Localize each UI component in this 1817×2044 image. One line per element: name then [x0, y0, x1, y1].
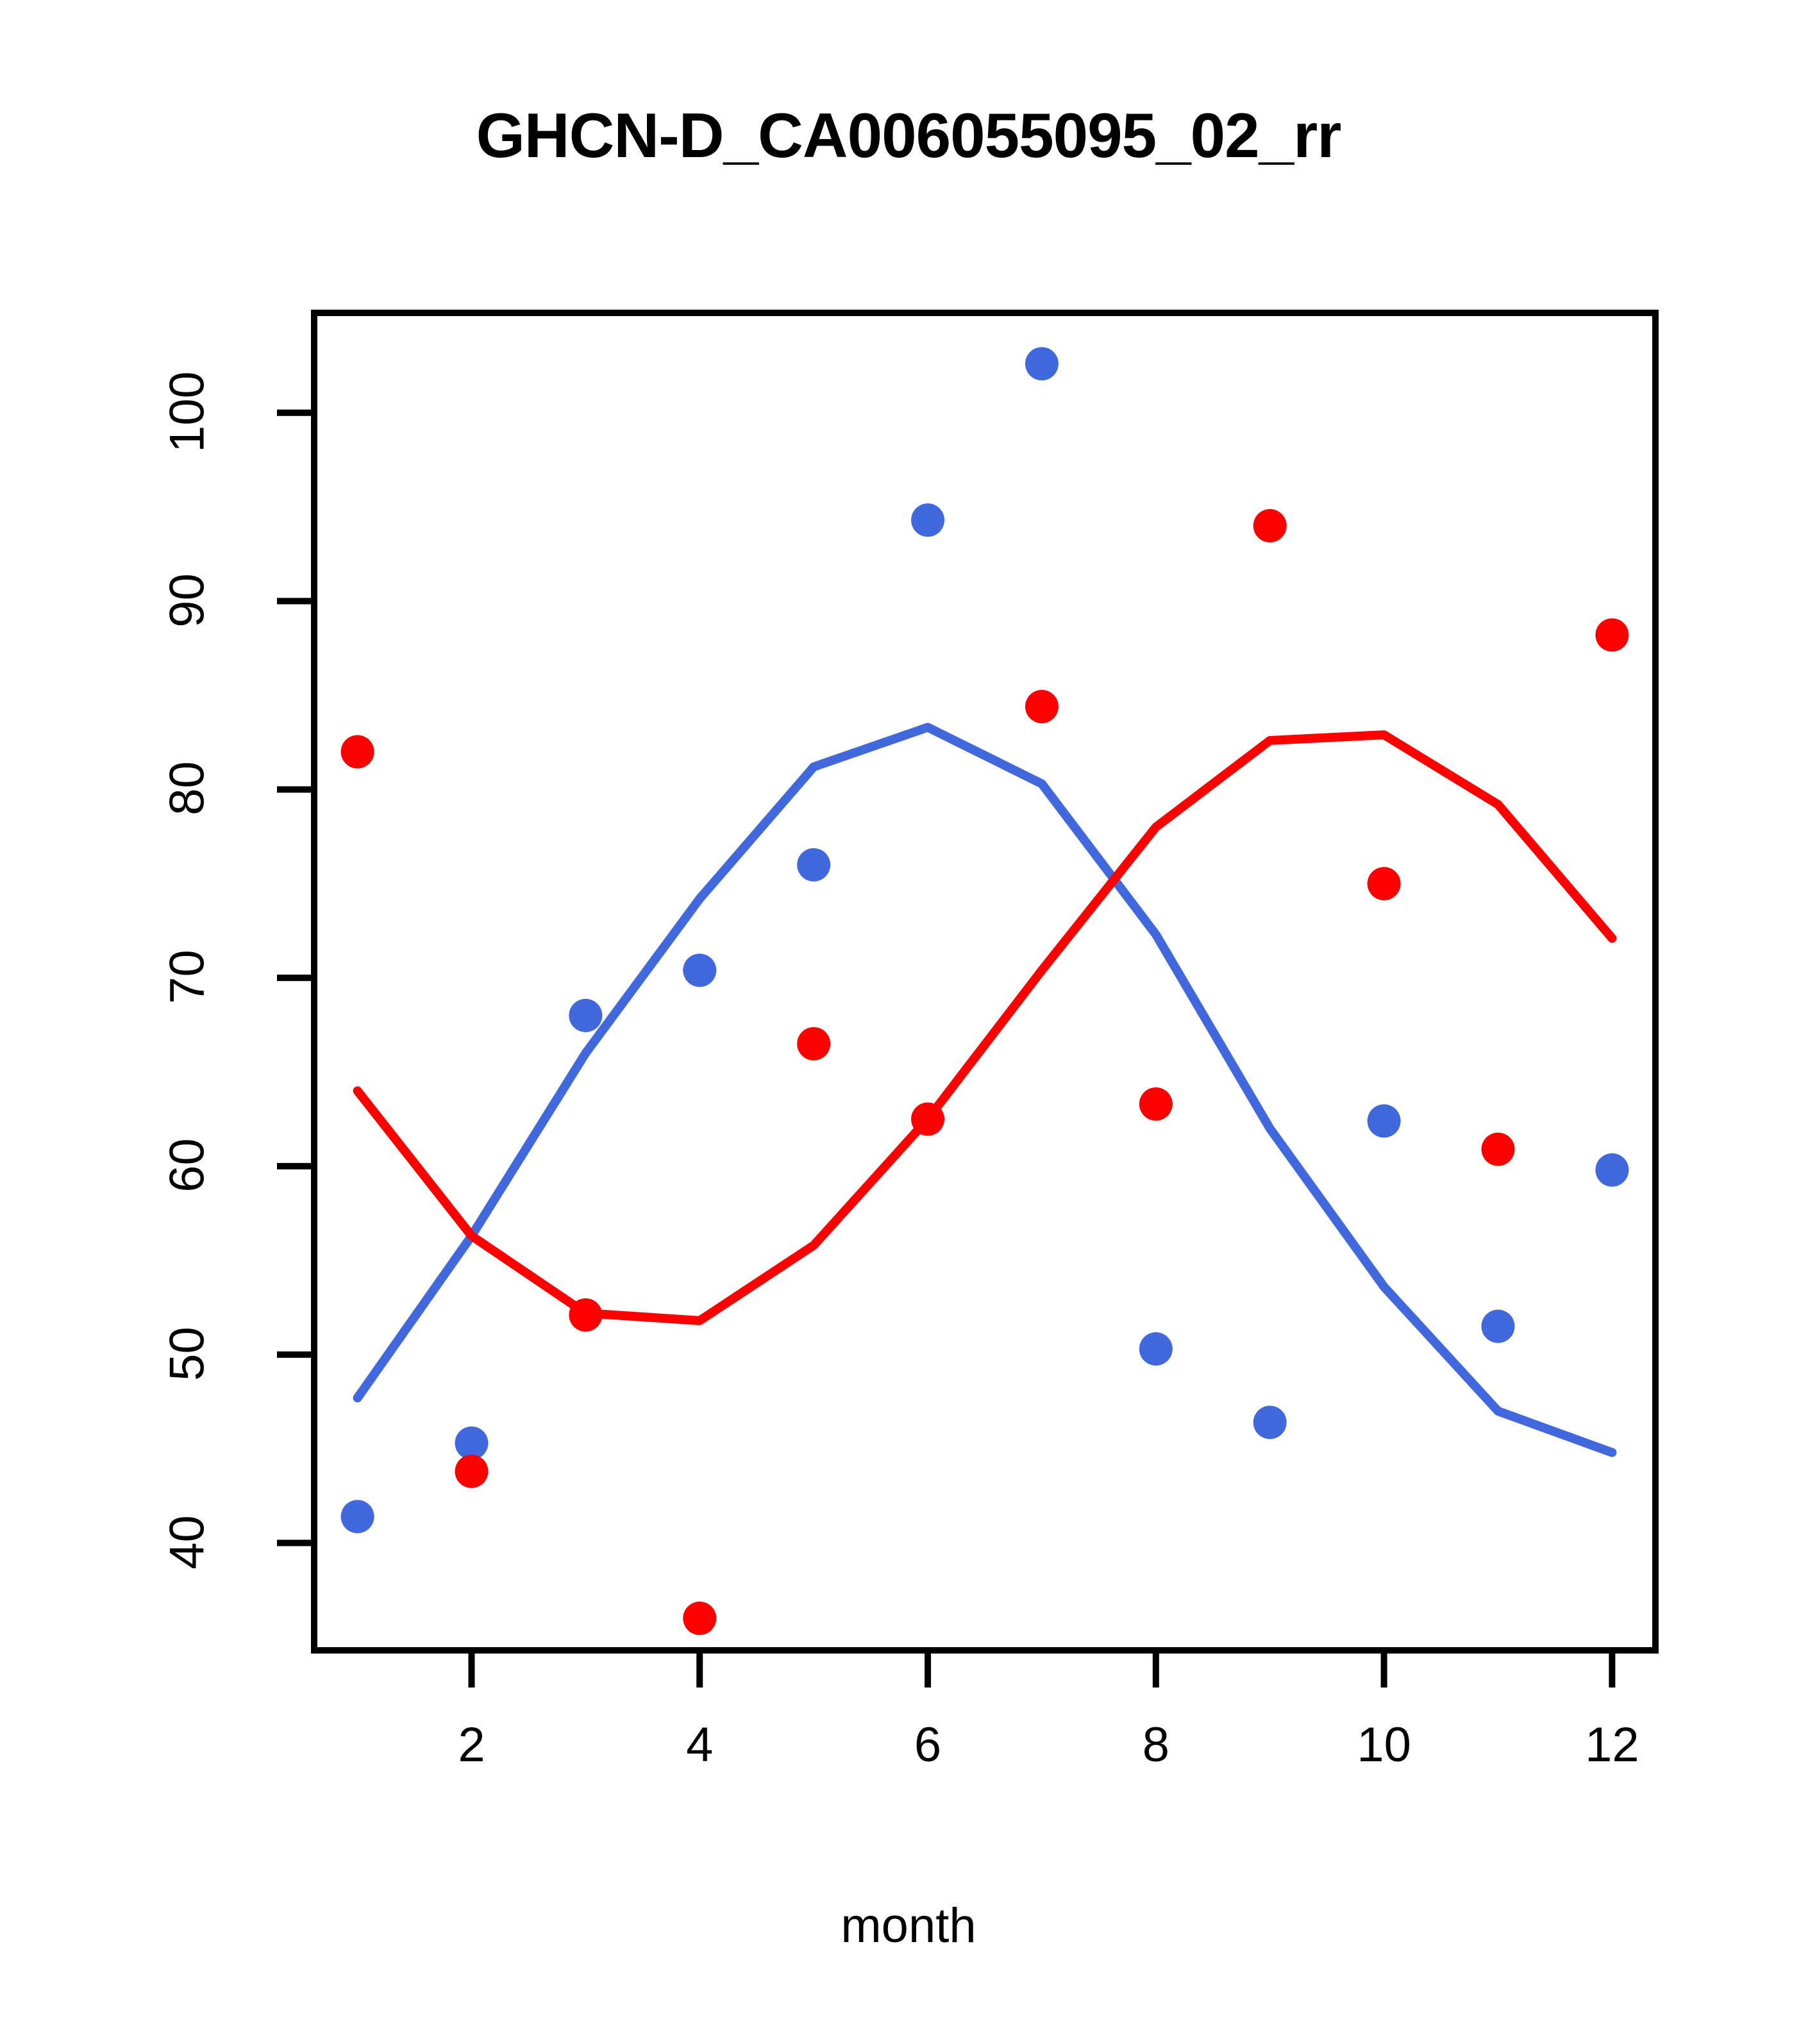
data-point-blue-points: [1253, 1405, 1287, 1439]
y-axis-tick-label: 80: [160, 725, 215, 853]
y-axis-tick-label: 50: [160, 1289, 215, 1418]
y-axis-tick-label: 100: [160, 348, 215, 476]
data-point-blue-points: [1025, 347, 1059, 380]
data-point-blue-points: [569, 999, 602, 1032]
x-axis-tick-label: 12: [1535, 1717, 1689, 1773]
data-point-blue-points: [341, 1500, 374, 1533]
data-point-red-points: [1482, 1132, 1515, 1166]
y-axis-tick-label: 40: [160, 1478, 215, 1606]
chart-figure: GHCN-D_CA006055095_02_rr 405060708090100…: [0, 0, 1817, 2044]
plot-box: [314, 313, 1655, 1650]
x-axis-label: month: [0, 1898, 1817, 1954]
data-point-red-points: [569, 1298, 602, 1332]
x-axis-tick-label: 2: [394, 1717, 548, 1773]
y-axis-tick-label: 90: [160, 536, 215, 664]
data-point-red-points: [683, 1602, 716, 1635]
data-point-blue-points: [1482, 1310, 1515, 1343]
data-point-blue-points: [1139, 1332, 1173, 1366]
y-axis-tick-label: 60: [160, 1101, 215, 1229]
data-point-red-points: [797, 1027, 830, 1060]
data-point-red-points: [911, 1102, 944, 1135]
data-point-blue-points: [911, 503, 944, 537]
x-axis-tick-label: 4: [623, 1717, 776, 1773]
data-point-blue-points: [1595, 1153, 1629, 1187]
x-axis-tick-label: 10: [1307, 1717, 1461, 1773]
data-point-red-points: [1595, 618, 1629, 651]
data-point-blue-points: [683, 953, 716, 987]
series-line-red-line: [358, 735, 1612, 1321]
data-point-red-points: [455, 1455, 488, 1488]
y-axis-tick-label: 70: [160, 913, 215, 1041]
x-axis-tick-label: 8: [1079, 1717, 1233, 1773]
data-point-red-points: [1139, 1087, 1173, 1121]
data-point-red-points: [1253, 509, 1287, 542]
x-axis-tick-label: 6: [851, 1717, 1005, 1773]
data-point-blue-points: [797, 848, 830, 882]
series-line-blue-line: [358, 727, 1612, 1452]
data-point-blue-points: [1368, 1104, 1401, 1137]
data-point-red-points: [1368, 867, 1401, 900]
data-point-red-points: [341, 735, 374, 769]
data-point-red-points: [1025, 690, 1059, 723]
series-layer: [341, 347, 1629, 1635]
